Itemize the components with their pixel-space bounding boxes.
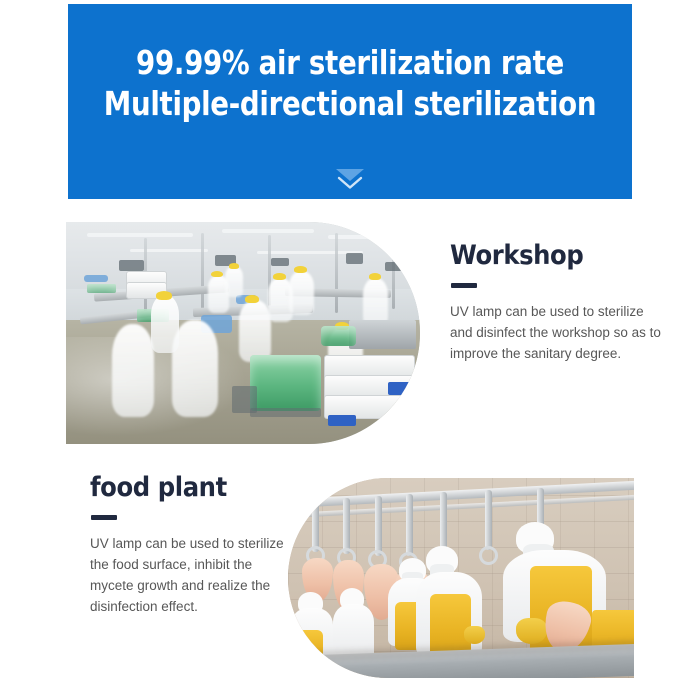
hero-title-line-2: Multiple-directional sterilization bbox=[88, 83, 613, 124]
photo-detail-hard-hat bbox=[369, 273, 382, 280]
photo-detail-worker bbox=[289, 271, 314, 315]
photo-detail-hard-hat bbox=[229, 263, 240, 269]
photo-detail-worker bbox=[239, 300, 271, 362]
photo-detail-monitor bbox=[385, 262, 403, 271]
photo-detail-pallet-jack bbox=[250, 408, 321, 417]
hero-banner: 99.99% air sterilization rate Multiple-d… bbox=[68, 4, 632, 199]
photo-detail-green-panel bbox=[87, 284, 115, 293]
photo-detail-light bbox=[87, 233, 193, 237]
food-plant-photo bbox=[288, 478, 634, 678]
hero-title-line-1: 99.99% air sterilization rate bbox=[88, 42, 613, 83]
food-plant-heading-rule bbox=[91, 515, 117, 520]
photo-detail-monitor bbox=[119, 260, 144, 271]
workshop-heading-rule bbox=[451, 283, 477, 288]
photo-detail-hard-hat bbox=[156, 291, 172, 300]
photo-detail-machine bbox=[349, 320, 416, 349]
photo-detail-green-machine bbox=[321, 326, 356, 346]
photo-detail-green-tote bbox=[250, 355, 321, 411]
workshop-photo bbox=[66, 222, 420, 444]
photo-detail-hook bbox=[375, 496, 382, 556]
photo-detail-worker bbox=[172, 320, 218, 418]
photo-detail-hard-hat bbox=[273, 273, 286, 280]
photo-detail-hook bbox=[312, 500, 319, 552]
food-plant-body-text: UV lamp can be used to sterilize the foo… bbox=[90, 533, 295, 617]
chevron-down-icon[interactable] bbox=[333, 166, 367, 190]
photo-detail-hard-hat bbox=[211, 271, 223, 278]
photo-detail-hook bbox=[485, 490, 492, 550]
workshop-heading: Workshop bbox=[450, 240, 665, 272]
workshop-text-block: Workshop UV lamp can be used to steriliz… bbox=[450, 240, 665, 364]
photo-detail-post bbox=[392, 238, 395, 309]
food-plant-text-block: food plant UV lamp can be used to steril… bbox=[90, 472, 295, 617]
photo-detail-worker bbox=[151, 295, 179, 353]
photo-detail-hard-hat bbox=[245, 295, 259, 303]
food-plant-heading: food plant bbox=[90, 472, 295, 504]
photo-detail-hook bbox=[406, 494, 413, 556]
photo-detail-pallet-jack bbox=[232, 386, 257, 413]
photo-detail-worker bbox=[112, 324, 154, 417]
product-detail-page: 99.99% air sterilization rate Multiple-d… bbox=[0, 0, 700, 700]
photo-detail-hook bbox=[343, 498, 350, 554]
photo-detail-post bbox=[201, 233, 204, 317]
photo-detail-hard-hat bbox=[294, 266, 307, 273]
photo-detail-crate-handle bbox=[328, 415, 356, 426]
photo-detail-light bbox=[222, 229, 314, 233]
photo-detail-blue-bin bbox=[84, 275, 109, 282]
workshop-body-text: UV lamp can be used to sterilize and dis… bbox=[450, 301, 665, 364]
photo-detail-shackle bbox=[479, 546, 498, 565]
photo-detail-monitor bbox=[271, 258, 289, 267]
photo-detail-monitor bbox=[346, 253, 364, 264]
photo-detail-post bbox=[335, 233, 338, 313]
section-workshop: Workshop UV lamp can be used to steriliz… bbox=[0, 222, 700, 452]
hero-title: 99.99% air sterilization rate Multiple-d… bbox=[88, 42, 613, 124]
photo-detail-worker bbox=[225, 266, 243, 297]
photo-detail-light bbox=[130, 249, 208, 252]
photo-detail-crate-handle bbox=[388, 382, 413, 395]
